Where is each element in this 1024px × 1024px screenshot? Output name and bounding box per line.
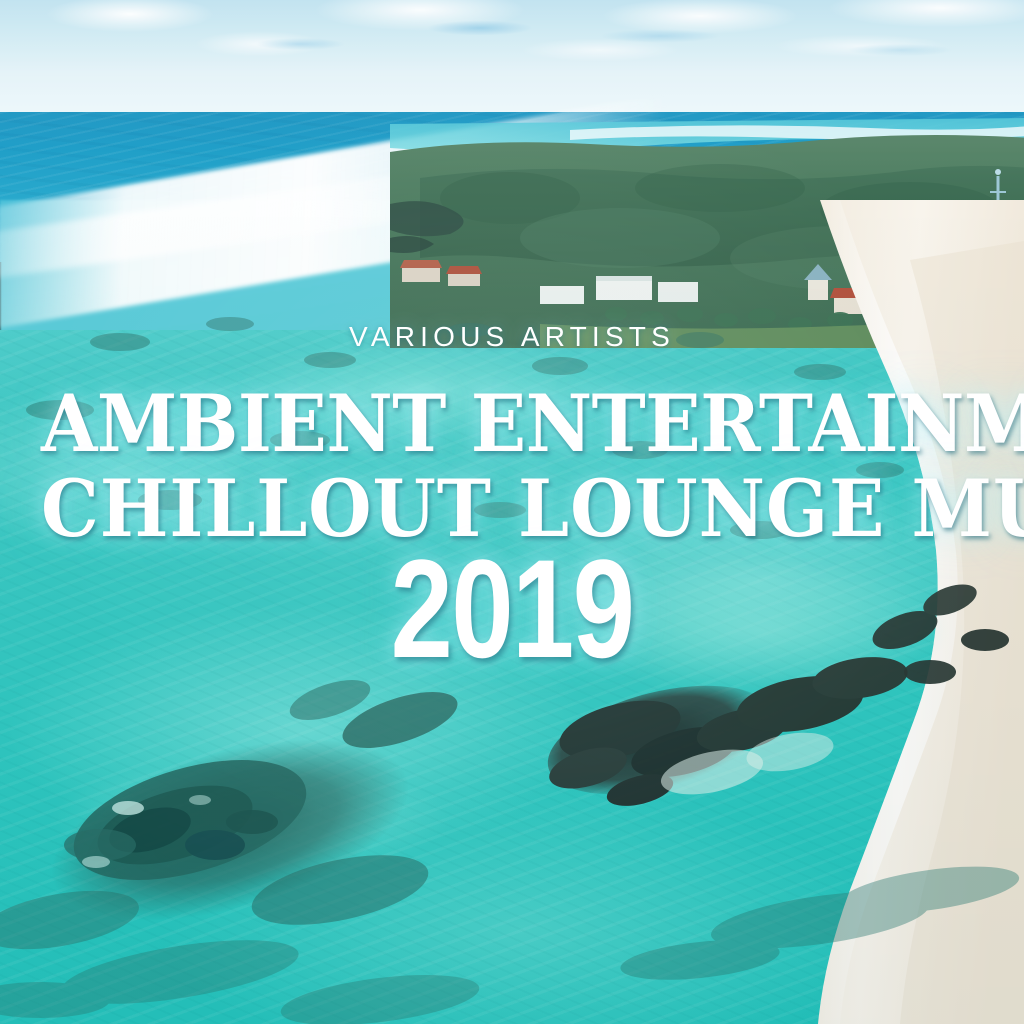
album-cover: VARIOUS ARTISTS AMBIENT ENTERTAINMENTS C… (0, 0, 1024, 1024)
coral-reef-and-rocks (0, 300, 1024, 1024)
cloud-shadow-patches (0, 0, 1024, 70)
cover-artwork-photo (0, 0, 1024, 1024)
